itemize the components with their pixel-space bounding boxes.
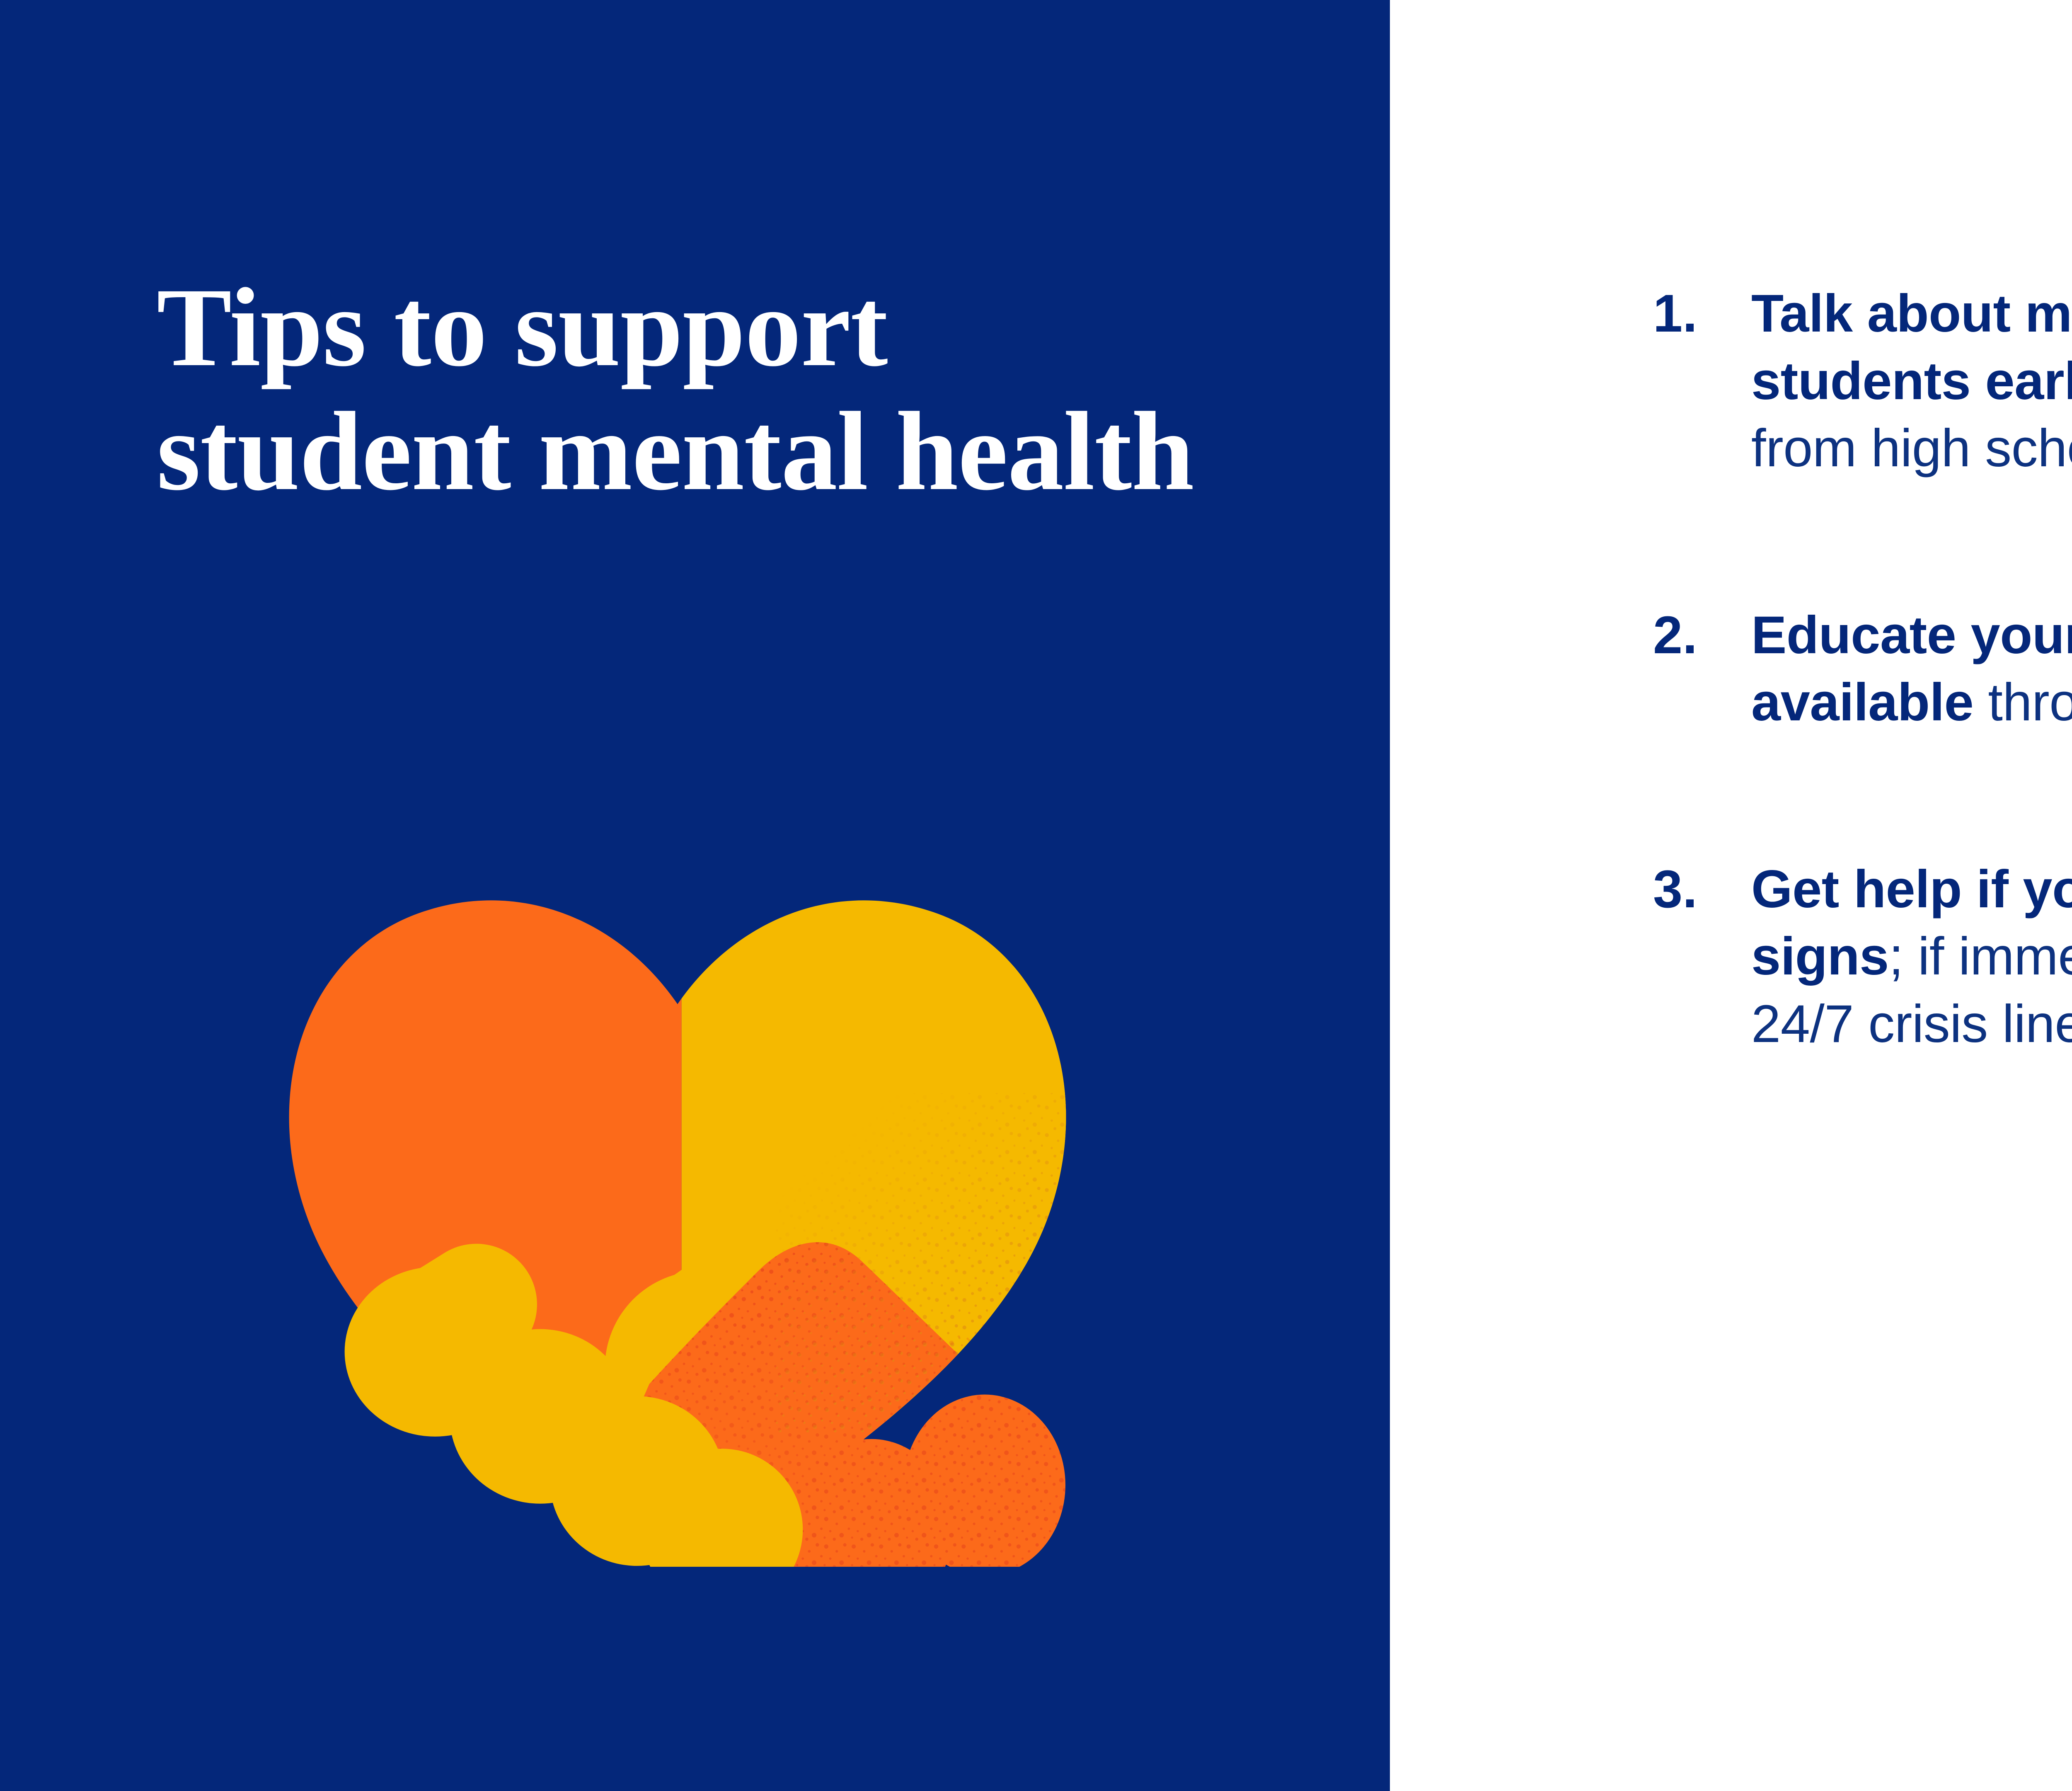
tip-lead: Talk about mental or behavioral health w… — [1751, 284, 2072, 411]
tips-list: 1. Talk about mental or behavioral healt… — [1636, 280, 2072, 1058]
tip-number: 1. — [1653, 280, 1751, 348]
page-title: Tips to support student mental health — [157, 265, 1276, 513]
list-item: 2. Educate yourself and your child about… — [1653, 602, 2072, 737]
list-item: 1. Talk about mental or behavioral healt… — [1653, 280, 2072, 482]
tip-text: Get help if your child is displaying war… — [1751, 856, 2072, 1058]
tip-rest: through their college and health plan — [1973, 673, 2072, 732]
tip-text: Educate yourself and your child about re… — [1751, 602, 2072, 737]
tip-number: 2. — [1653, 602, 1751, 669]
tip-text: Talk about mental or behavioral health w… — [1751, 280, 2072, 482]
heart-handshake-illustration — [274, 883, 1082, 1567]
right-content-panel: 1. Talk about mental or behavioral healt… — [1390, 0, 2072, 1791]
slide-root: Tips to support student mental health — [0, 0, 2072, 1791]
title-line-1: Tips to support — [157, 265, 1276, 389]
title-line-2: student mental health — [157, 389, 1276, 513]
tip-number: 3. — [1653, 856, 1751, 923]
left-navy-panel: Tips to support student mental health — [0, 0, 1390, 1791]
list-item: 3. Get help if your child is displaying … — [1653, 856, 2072, 1058]
